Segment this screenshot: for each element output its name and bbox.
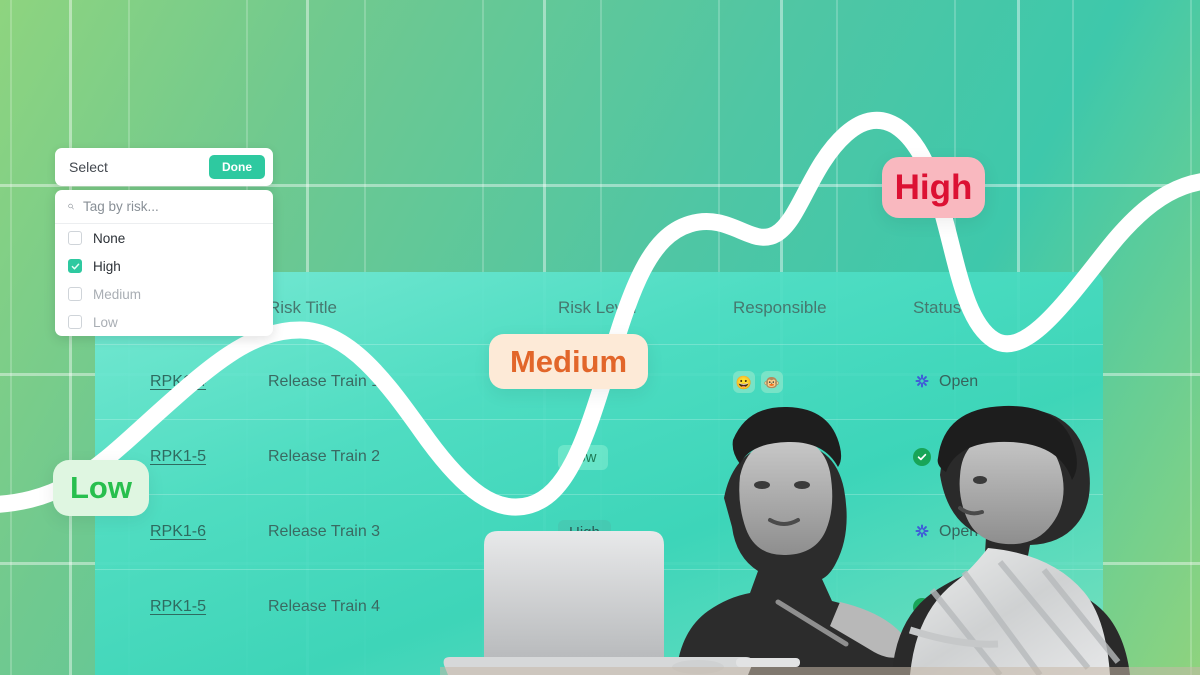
column-header-responsible[interactable]: Responsible	[733, 298, 913, 318]
status-cell	[913, 448, 1083, 466]
search-row	[55, 190, 273, 224]
select-label: Select	[69, 159, 108, 175]
search-input[interactable]	[83, 199, 260, 214]
risk-id-link[interactable]: RPK1-5	[150, 598, 206, 615]
floating-tag-high[interactable]: High	[882, 157, 985, 218]
status-label: Open	[939, 373, 978, 391]
table-row[interactable]: RPK1-6 Release Train 3 High Open	[95, 494, 1103, 569]
risk-id-link[interactable]: RPK1-6	[150, 523, 206, 540]
column-header-level[interactable]: Risk Level	[558, 298, 733, 318]
filter-option-label: High	[93, 259, 121, 274]
floating-tag-low[interactable]: Low	[53, 460, 149, 516]
column-header-title[interactable]: Risk Title	[268, 298, 558, 318]
risk-title: Release Train 2	[268, 448, 558, 466]
filter-option-label: Medium	[93, 287, 141, 302]
checkbox[interactable]	[68, 231, 82, 245]
select-menu: None High Medium Low	[55, 190, 273, 336]
risk-level-cell: Low	[558, 445, 733, 470]
risk-level-cell: High	[558, 520, 733, 545]
risk-title: Release Train 3	[268, 523, 558, 541]
risk-id-link[interactable]: RPK1-4	[150, 373, 206, 390]
column-header-status[interactable]: Status	[913, 298, 1083, 318]
done-button[interactable]: Done	[209, 155, 265, 179]
status-cell: Open	[913, 523, 1083, 541]
risk-level-badge[interactable]: Low	[558, 445, 608, 470]
floating-tag-medium[interactable]: Medium	[489, 334, 648, 389]
risk-id-link[interactable]: RPK1-5	[150, 448, 206, 465]
spinner-icon	[913, 374, 930, 391]
risk-title: Release Train 4	[268, 598, 558, 616]
search-icon	[68, 200, 74, 213]
status-label: Accepted	[940, 598, 1007, 616]
status-label: Open	[939, 523, 978, 541]
spinner-icon	[913, 524, 930, 541]
table-row[interactable]: RPK1-5 Release Train 2 Low	[95, 419, 1103, 494]
check-circle-icon	[913, 598, 931, 616]
filter-option-high[interactable]: High	[55, 252, 273, 280]
filter-option-label: Low	[93, 315, 118, 330]
table-row[interactable]: RPK1-5 Release Train 4 Accepted	[95, 569, 1103, 644]
check-circle-icon	[913, 448, 931, 466]
risk-filter-dropdown: Select Done None High	[55, 148, 273, 336]
status-cell: Accepted	[913, 598, 1083, 616]
filter-option-label: None	[93, 231, 125, 246]
screenshot-root: Risk Title Risk Level Responsible Status…	[0, 0, 1200, 675]
filter-option-medium[interactable]: Medium	[55, 280, 273, 308]
filter-option-none[interactable]: None	[55, 224, 273, 252]
risk-level-badge[interactable]: High	[558, 520, 611, 545]
status-cell: Open	[913, 373, 1083, 391]
responsible-cell: 😀 🐵	[733, 371, 913, 393]
checkbox-checked[interactable]	[68, 259, 82, 273]
select-bar: Select Done	[55, 148, 273, 186]
checkbox[interactable]	[68, 315, 82, 329]
avatar[interactable]: 😀	[733, 371, 755, 393]
avatar[interactable]: 🐵	[761, 371, 783, 393]
checkbox[interactable]	[68, 287, 82, 301]
filter-option-low[interactable]: Low	[55, 308, 273, 336]
